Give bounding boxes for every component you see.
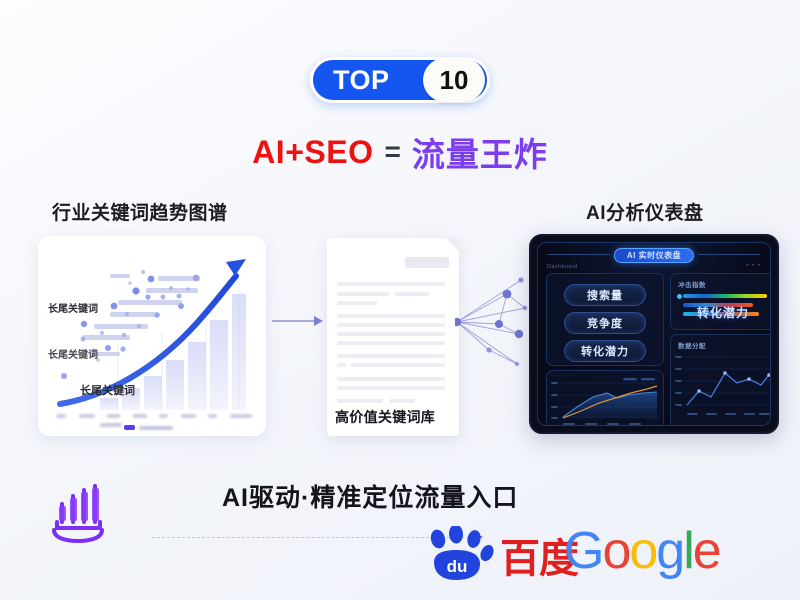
- document-fold-corner: [446, 238, 459, 251]
- google-letter-g1: G: [564, 522, 602, 580]
- page-title: AI+SEO = 流量王炸: [0, 128, 800, 176]
- metric-pill-search-volume[interactable]: 搜索量: [564, 284, 646, 306]
- document-header-chip: [405, 257, 449, 268]
- keyword-trend-chart-card: 长尾关键词 长尾关键词 长尾关键词: [38, 236, 266, 436]
- baidu-du-text: du: [447, 557, 468, 576]
- google-letter-g2: g: [656, 522, 683, 580]
- top-rank-badge: TOP 10: [310, 57, 490, 103]
- title-left: AI+SEO: [252, 134, 373, 171]
- legend-swatch: [124, 425, 135, 430]
- chart-x-axis-ticks: [56, 412, 252, 420]
- title-right: 流量王炸: [412, 128, 548, 176]
- google-logo: Google: [564, 521, 720, 581]
- google-letter-l: l: [683, 522, 693, 580]
- metric-pill-conversion[interactable]: 转化潜力: [564, 340, 646, 362]
- keyword-label-2: 长尾关键词: [48, 346, 98, 361]
- area-chart-svg: [547, 371, 665, 426]
- baidu-paw-icon: du: [424, 526, 498, 584]
- slide-canvas: TOP 10 AI+SEO = 流量王炸 行业关键词趋势图谱 AI分析仪表盘: [0, 0, 800, 600]
- chart-blurred-text: [82, 274, 200, 356]
- flow-arrow-right: [272, 315, 324, 327]
- impact-panel-title: 冲击指数: [678, 279, 706, 289]
- trend-chart-svg: [38, 236, 266, 436]
- chart-x-axis-label: [100, 423, 122, 427]
- dashboard-subtitle: Dashboard: [547, 264, 578, 270]
- impact-panel-overlay-text: 转化潜力: [697, 304, 749, 321]
- keyword-library-document-card: 高价值关键词库: [327, 238, 459, 436]
- dashboard-menu-icon[interactable]: • • •: [746, 263, 761, 269]
- chart-legend: [124, 425, 173, 430]
- dashboard-header-badge: AI 实时仪表盘: [614, 248, 694, 263]
- dashboard-distribution-panel: 数据分配: [670, 334, 771, 426]
- dashboard-area-chart-panel: [546, 370, 664, 426]
- title-equals: =: [384, 136, 400, 168]
- bar-chart-pedestal-icon: [48, 482, 114, 544]
- dashboard-screen: AI 实时仪表盘 Dashboard • • • 搜索量 竞争度 转化潜力: [537, 242, 771, 426]
- google-letter-o1: o: [602, 522, 629, 580]
- google-letter-e: e: [693, 522, 720, 580]
- keyword-label-1: 长尾关键词: [48, 300, 98, 315]
- node-network-graph: [455, 272, 533, 372]
- gradient-bar-1: [683, 294, 767, 298]
- keyword-label-3: 长尾关键词: [80, 382, 135, 398]
- metric-pill-competition[interactable]: 竞争度: [564, 312, 646, 334]
- top-badge-number: 10: [440, 65, 469, 96]
- line-chart-svg: [671, 349, 771, 426]
- google-letter-o2: o: [629, 522, 656, 580]
- dashboard-impact-index-panel: 冲击指数 转化潜力: [670, 273, 771, 330]
- baidu-logo: du 百度: [424, 526, 578, 584]
- document-label: 高价值关键词库: [335, 407, 435, 427]
- section-label-left: 行业关键词趋势图谱: [52, 198, 228, 225]
- section-label-right: AI分析仪表盘: [586, 198, 704, 225]
- dashboard-metrics-panel: 搜索量 竞争度 转化潜力: [546, 273, 664, 366]
- top-badge-word: TOP: [333, 65, 390, 96]
- legend-text: [139, 426, 173, 430]
- ai-dashboard-card: AI 实时仪表盘 Dashboard • • • 搜索量 竞争度 转化潜力: [529, 234, 779, 434]
- bottom-tagline: AI驱动·精准定位流量入口: [222, 478, 518, 514]
- top-badge-number-chip: 10: [423, 58, 485, 102]
